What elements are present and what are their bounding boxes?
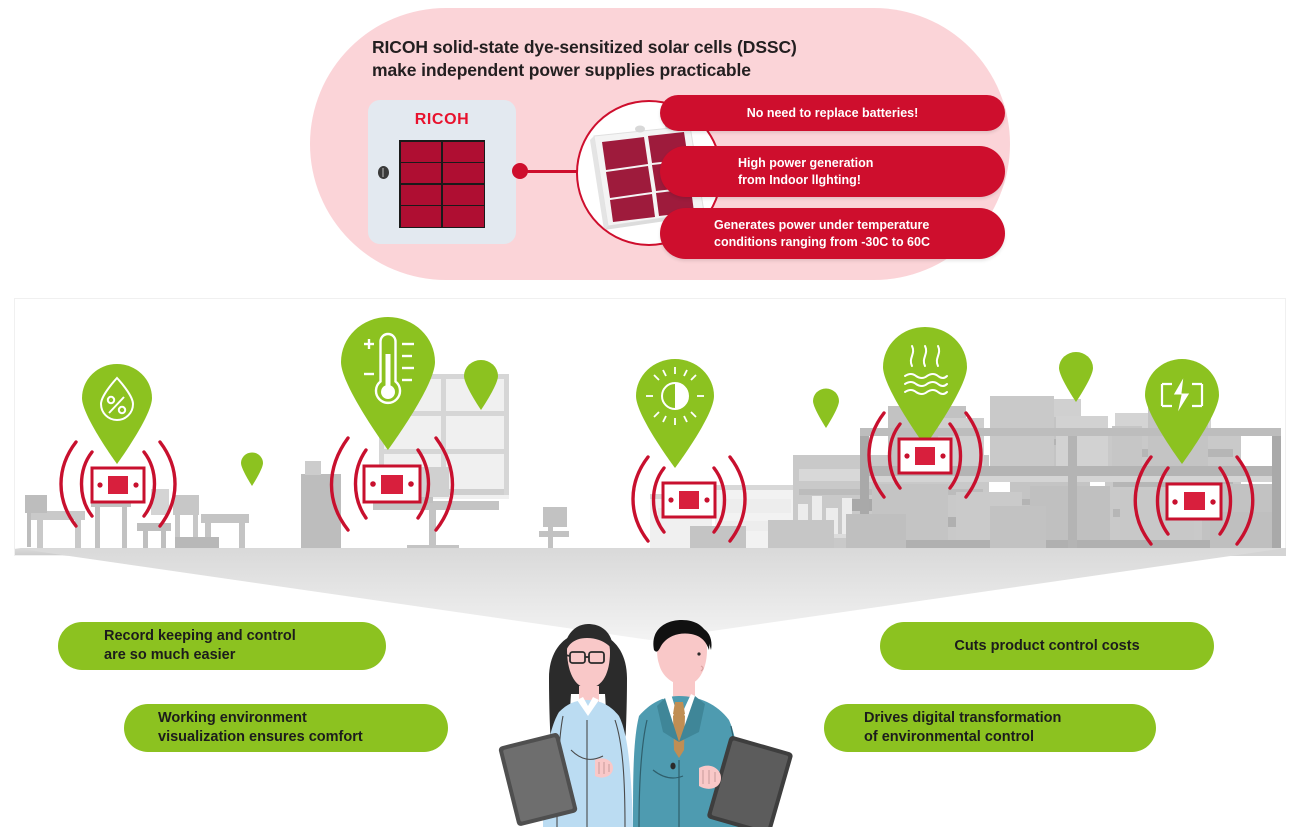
wireless-sensor-node-icon	[899, 439, 951, 473]
ricoh-dssc-panel: RICOH	[368, 100, 516, 244]
solar-cell-grid	[399, 140, 485, 228]
banner-title: RICOH solid-state dye-sensitized solar c…	[372, 36, 972, 83]
infographic-canvas: RICOH solid-state dye-sensitized solar c…	[0, 0, 1300, 827]
wireless-sensor-node-icon	[1167, 484, 1221, 519]
pin-decorative-2	[463, 360, 499, 410]
panel-side-port-icon	[378, 166, 389, 179]
two-business-people-with-tablets	[487, 620, 813, 827]
wireless-sensor-node-icon	[364, 466, 420, 502]
benefit-pill-record-keeping: Record keeping and control are so much e…	[58, 622, 386, 670]
sensor-node-heat	[860, 400, 990, 510]
feature-pill-temperature-range: Generates power under temperature condit…	[660, 208, 1005, 259]
man-illustration	[633, 620, 794, 827]
benefit-pill-digital-transformation: Drives digital transformation of environ…	[824, 704, 1156, 752]
benefit-pill-working-environment: Working environment visualization ensure…	[124, 704, 448, 752]
woman-illustration	[498, 624, 633, 827]
benefit-pill-cuts-costs: Cuts product control costs	[880, 622, 1214, 670]
sensor-node-power	[1126, 444, 1262, 556]
ricoh-logo-text: RICOH	[368, 111, 516, 129]
connector-line	[526, 170, 582, 173]
wireless-sensor-node-icon	[92, 468, 144, 502]
pin-decorative-3	[812, 388, 840, 428]
wireless-sensor-node-icon	[663, 483, 715, 517]
pin-decorative-4	[1058, 352, 1094, 402]
sensor-node-temperature	[322, 424, 462, 542]
feature-pill-no-batteries: No need to replace batteries!	[660, 95, 1005, 131]
pin-decorative-1	[240, 452, 264, 486]
sensor-node-humidity	[52, 428, 184, 540]
sensor-node-brightness	[624, 444, 754, 554]
feature-pill-indoor-lighting: High power generation from Indoor llghti…	[660, 146, 1005, 197]
